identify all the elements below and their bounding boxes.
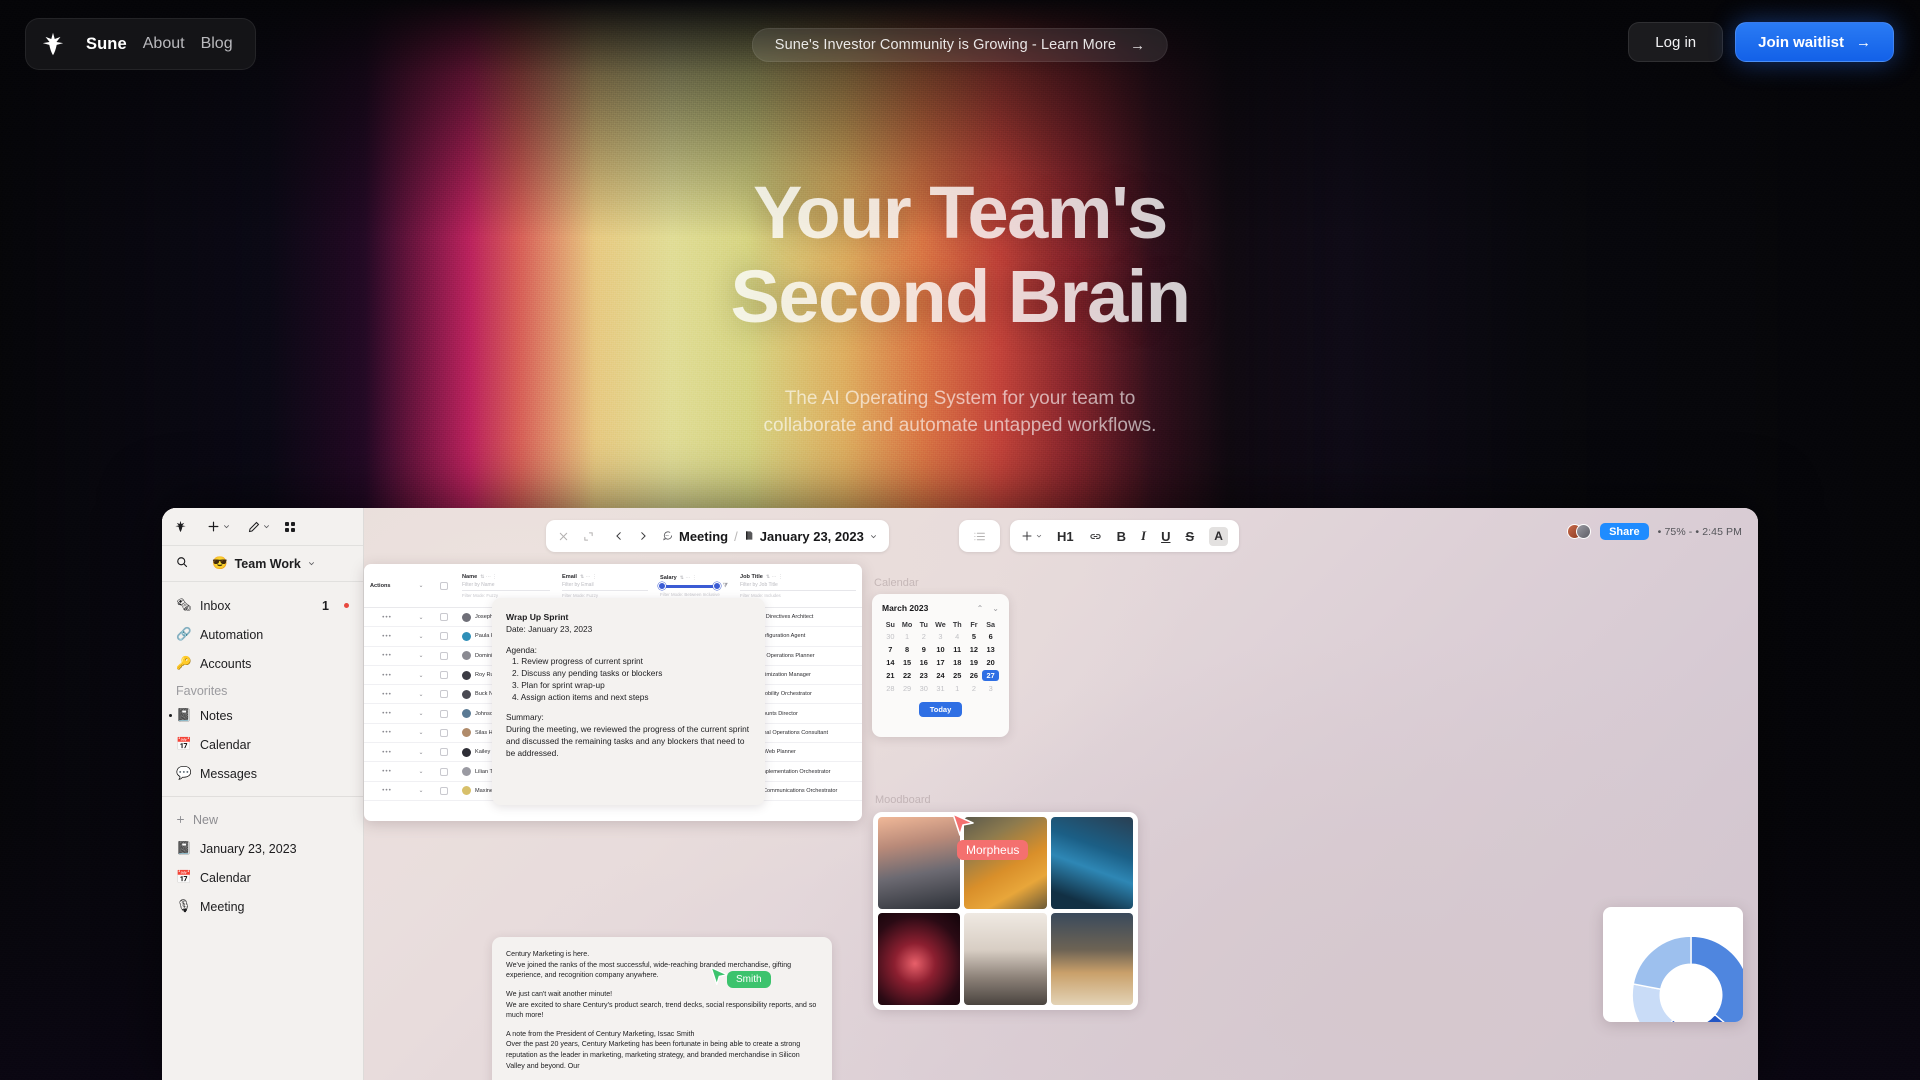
- calendar-footer: Today: [882, 702, 999, 717]
- avatar: [462, 786, 471, 795]
- note-agenda-item: 3. Plan for sprint wrap-up: [512, 680, 751, 692]
- forward-icon[interactable]: [638, 531, 648, 541]
- row-expand-icon[interactable]: ⌄: [410, 633, 432, 640]
- note-agenda-item: 1. Review progress of current sprint: [512, 656, 751, 668]
- login-button[interactable]: Log in: [1628, 22, 1723, 62]
- expand-icon[interactable]: [583, 531, 594, 542]
- avatar: [462, 767, 471, 776]
- note-title: Wrap Up Sprint: [506, 612, 568, 622]
- toolbar-right-group: Share • 75% - • 2:45 PM: [1567, 523, 1742, 540]
- sidebar-page-meeting[interactable]: 🎙 Meeting: [162, 892, 363, 921]
- column-label: Email: [562, 574, 577, 580]
- calendar-day[interactable]: 10: [932, 644, 949, 655]
- gallery-image[interactable]: [964, 913, 1046, 1005]
- row-expand-icon[interactable]: ⌄: [410, 652, 432, 659]
- avatar: [1576, 524, 1591, 539]
- hero-subtitle: The AI Operating System for your team to…: [0, 385, 1920, 440]
- avatar: [462, 671, 471, 680]
- nav-actions: Log in Join waitlist →: [1628, 22, 1894, 62]
- column-filter-mode: Filter Mode: Includes: [740, 593, 856, 598]
- slider-handle-max[interactable]: [713, 582, 721, 590]
- sidebar-item-notes[interactable]: 📓 Notes: [162, 701, 363, 730]
- row-checkbox-cell[interactable]: [432, 613, 456, 621]
- bold-button[interactable]: B: [1117, 529, 1126, 544]
- toolbar-navigation-group: Meeting / January 23, 2023: [546, 520, 889, 552]
- sidebar-item-label: Notes: [200, 709, 349, 723]
- edit-pencil-icon[interactable]: [248, 521, 270, 533]
- arrow-right-icon: →: [1130, 37, 1145, 54]
- hero-title-line1: Your Team's: [753, 171, 1167, 254]
- row-checkbox-cell[interactable]: [432, 632, 456, 640]
- table-column-header[interactable]: Email ⇅ ⋯ ⋮: [562, 574, 648, 580]
- cursor-label: Morpheus: [957, 840, 1028, 860]
- sidebar-page-january-23-2023[interactable]: 📓 January 23, 2023: [162, 834, 363, 863]
- automation-icon: 🔗: [176, 627, 191, 642]
- calendar-day[interactable]: 31: [932, 683, 949, 694]
- calendar-icon: 📅: [176, 737, 191, 752]
- doc-paragraph: Century Marketing is here.: [506, 949, 818, 960]
- note-summary-label: Summary:: [506, 712, 751, 724]
- row-actions-menu[interactable]: •••: [364, 672, 410, 679]
- chevron-down-icon[interactable]: ⌄: [418, 582, 423, 589]
- row-checkbox-cell[interactable]: [432, 787, 456, 795]
- sidebar-page-calendar[interactable]: 📅 Calendar: [162, 863, 363, 892]
- row-checkbox[interactable]: [440, 768, 448, 776]
- row-checkbox[interactable]: [440, 690, 448, 698]
- gallery-image[interactable]: [1051, 913, 1133, 1005]
- column-sort-icon[interactable]: ⇅ ⋯ ⋮: [680, 575, 697, 581]
- avatar: [462, 651, 471, 660]
- sidebar-main-nav: 🗞 Inbox 1 🔗 Automation 🔑 Accounts Favori…: [162, 582, 363, 927]
- gallery-image[interactable]: [878, 817, 960, 909]
- calendar-day[interactable]: 30: [882, 631, 899, 642]
- calendar-day[interactable]: 6: [982, 631, 999, 642]
- calendar-icon: 📅: [176, 870, 191, 885]
- row-expand-icon[interactable]: ⌄: [410, 768, 432, 775]
- calendar-dow: Th: [949, 620, 966, 629]
- column-sort-icon[interactable]: ⇅ ⋯ ⋮: [766, 574, 783, 580]
- avatar: [462, 690, 471, 699]
- table-column-header[interactable]: Salary ⇅ ⋯ ⋮: [660, 575, 728, 581]
- calendar-dow: Fr: [966, 620, 983, 629]
- workspace-name: Team Work: [235, 557, 301, 571]
- column-filter-mode: Filter Mode: Fuzzy: [462, 593, 550, 598]
- hero-section: Your Team's Second Brain The AI Operatin…: [0, 178, 1920, 440]
- grid-apps-icon[interactable]: [284, 521, 296, 533]
- sidebar-new-button[interactable]: New: [162, 805, 363, 834]
- row-expand-icon[interactable]: ⌄: [410, 710, 432, 717]
- column-label: Name: [462, 574, 477, 580]
- calendar-day[interactable]: 8: [899, 644, 916, 655]
- hero-subtitle-line2: collaborate and automate untapped workfl…: [764, 415, 1157, 436]
- sidebar-item-label: Inbox: [200, 599, 313, 613]
- doc-paragraph: Over the past 20 years, Century Marketin…: [506, 1039, 818, 1071]
- breadcrumb-separator: /: [734, 529, 738, 544]
- column-label: Job Title: [740, 574, 763, 580]
- gallery-image[interactable]: [1051, 817, 1133, 909]
- chevron-down-icon[interactable]: ⌄: [992, 604, 999, 613]
- calendar-month-title: March 2023: [882, 603, 928, 613]
- link-icon[interactable]: [1089, 530, 1102, 543]
- row-actions-menu[interactable]: •••: [364, 729, 410, 736]
- heading-1-button[interactable]: H1: [1057, 529, 1074, 544]
- calendar-today-button[interactable]: Today: [919, 702, 963, 717]
- row-expand-icon[interactable]: ⌄: [410, 614, 432, 621]
- donut-chart-card[interactable]: [1603, 907, 1743, 1022]
- row-checkbox[interactable]: [440, 652, 448, 660]
- calendar-dow: We: [932, 620, 949, 629]
- note-date: Date: January 23, 2023: [506, 624, 751, 636]
- row-actions-menu[interactable]: •••: [364, 633, 410, 640]
- calendar-day[interactable]: 3: [982, 683, 999, 694]
- salary-range-slider[interactable]: [660, 585, 719, 588]
- column-filter-input[interactable]: Filter by Job Title: [740, 582, 856, 591]
- sidebar-new-label: New: [193, 813, 218, 827]
- gallery-image[interactable]: [878, 913, 960, 1005]
- column-filter-mode: Filter Mode: Between Inclusive: [660, 592, 728, 597]
- calendar-day[interactable]: 25: [949, 670, 966, 681]
- calendar-day[interactable]: 1: [899, 631, 916, 642]
- app-preview-window: 😎 Team Work 🗞 Inbox 1 🔗 Automation �: [162, 508, 1758, 1080]
- column-sort-icon[interactable]: ⇅ ⋯ ⋮: [580, 574, 597, 580]
- row-actions-menu[interactable]: •••: [364, 652, 410, 659]
- sidebar-item-label: Calendar: [200, 871, 349, 885]
- calendar-day[interactable]: 11: [949, 644, 966, 655]
- calendar-dow: Su: [882, 620, 899, 629]
- note-agenda-item: 2. Discuss any pending tasks or blockers: [512, 668, 751, 680]
- underline-button[interactable]: U: [1161, 529, 1170, 544]
- chevron-down-icon: [870, 533, 877, 540]
- select-all-checkbox[interactable]: [440, 582, 448, 590]
- row-checkbox-cell[interactable]: [432, 729, 456, 737]
- avatar: [462, 748, 471, 757]
- messages-icon: 💬: [176, 766, 191, 781]
- hero-title: Your Team's Second Brain: [0, 178, 1920, 333]
- brand-name[interactable]: Sune: [86, 35, 127, 54]
- row-expand-icon[interactable]: ⌄: [410, 691, 432, 698]
- row-actions-menu[interactable]: •••: [364, 749, 410, 756]
- calendar-day[interactable]: 13: [982, 644, 999, 655]
- doc-paragraph: A note from the President of Century Mar…: [506, 1029, 818, 1040]
- sidebar-item-label: January 23, 2023: [200, 842, 349, 856]
- sparkle-icon[interactable]: [174, 520, 187, 533]
- calendar-day[interactable]: 24: [932, 670, 949, 681]
- table-column-actions: Actions: [370, 583, 404, 589]
- calendar-header: March 2023 ⌃ ⌄: [882, 603, 999, 613]
- calendar-day[interactable]: 2: [915, 631, 932, 642]
- workspace-switcher[interactable]: 😎 Team Work: [212, 556, 315, 571]
- calendar-dow: Tu: [915, 620, 932, 629]
- column-filter-mode: Filter Mode: Fuzzy: [562, 593, 648, 598]
- announcement-text: Sune's Investor Community is Growing - L…: [775, 37, 1116, 53]
- workspace-emoji: 😎: [212, 556, 228, 571]
- breadcrumb-room[interactable]: Meeting: [679, 529, 728, 544]
- row-actions-menu[interactable]: •••: [364, 614, 410, 621]
- room-chat-icon: [662, 529, 673, 544]
- row-checkbox-cell[interactable]: [432, 671, 456, 679]
- close-icon[interactable]: [558, 531, 569, 542]
- sune-logo-icon[interactable]: [36, 27, 70, 61]
- calendar-day[interactable]: 26: [966, 670, 983, 681]
- calendar-dow: Mo: [899, 620, 916, 629]
- row-actions-menu[interactable]: •••: [364, 691, 410, 698]
- inbox-count: 1: [322, 599, 329, 613]
- calendar-day[interactable]: 18: [949, 657, 966, 668]
- sidebar-section-favorites-label: Favorites: [162, 678, 363, 701]
- note-card[interactable]: Wrap Up Sprint Date: January 23, 2023 Ag…: [492, 598, 765, 805]
- donut-chart: [1621, 925, 1743, 1022]
- sidebar-item-label: Calendar: [200, 738, 349, 752]
- calendar-day[interactable]: 5: [966, 631, 983, 642]
- search-icon[interactable]: [176, 555, 188, 573]
- calendar-day[interactable]: 2: [966, 683, 983, 694]
- row-expand-icon[interactable]: ⌄: [410, 787, 432, 794]
- sidebar-item-automation[interactable]: 🔗 Automation: [162, 620, 363, 649]
- sidebar-item-calendar[interactable]: 📅 Calendar: [162, 730, 363, 759]
- row-expand-icon[interactable]: ⌄: [410, 672, 432, 679]
- announcement-banner[interactable]: Sune's Investor Community is Growing - L…: [752, 28, 1168, 62]
- avatar: [462, 728, 471, 737]
- doc-paragraph: We've joined the ranks of the most succe…: [506, 960, 818, 981]
- avatar: [462, 613, 471, 622]
- toolbar-list-group: [959, 520, 1000, 552]
- sidebar-item-label: Messages: [200, 767, 349, 781]
- calendar-grid: SuMoTuWeThFrSa30123456789101112131415161…: [882, 620, 999, 694]
- list-view-icon[interactable]: [973, 530, 986, 543]
- join-waitlist-button[interactable]: Join waitlist →: [1735, 22, 1894, 62]
- landing-page: Sune About Blog Sune's Investor Communit…: [0, 0, 1920, 1080]
- doc-paragraph: We are excited to share Century's produc…: [506, 1000, 818, 1021]
- calendar-day[interactable]: 4: [949, 631, 966, 642]
- calendar-day[interactable]: 27: [982, 670, 999, 681]
- row-checkbox-cell[interactable]: [432, 652, 456, 660]
- table-column-header[interactable]: Job Title ⇅ ⋯ ⋮: [740, 574, 856, 580]
- note-agenda-label: Agenda:: [506, 645, 751, 657]
- insert-block-icon[interactable]: [1021, 530, 1042, 542]
- canvas-label-moodboard: Moodboard: [875, 794, 931, 806]
- note-summary-text: During the meeting, we reviewed the prog…: [506, 724, 751, 759]
- row-checkbox[interactable]: [440, 787, 448, 795]
- row-checkbox-cell[interactable]: [432, 748, 456, 756]
- app-canvas: Calendar Moodboard Wrap Up Sprint Date: …: [364, 564, 1758, 1080]
- cursor-arrow-icon: [951, 812, 977, 842]
- cursor-label: Smith: [727, 971, 771, 988]
- row-expand-icon[interactable]: ⌄: [410, 729, 432, 736]
- unread-dot-icon: [344, 603, 349, 608]
- sidebar-item-messages[interactable]: 💬 Messages: [162, 759, 363, 788]
- sidebar-divider: [162, 796, 363, 797]
- calendar-day[interactable]: 15: [899, 657, 916, 668]
- calendar-day[interactable]: 7: [882, 644, 899, 655]
- sidebar-search-row: 😎 Team Work: [162, 546, 363, 582]
- calendar-day[interactable]: 23: [915, 670, 932, 681]
- active-bullet-icon: [169, 714, 172, 717]
- slider-handle-min[interactable]: [658, 582, 666, 590]
- row-checkbox-cell[interactable]: [432, 768, 456, 776]
- sidebar-item-accounts[interactable]: 🔑 Accounts: [162, 649, 363, 678]
- app-toolbar: Meeting / January 23, 2023: [364, 508, 1758, 564]
- moodboard-gallery[interactable]: Morpheus: [873, 812, 1138, 1010]
- calendar-day[interactable]: 30: [915, 683, 932, 694]
- filter-icon[interactable]: ⧩: [723, 583, 728, 590]
- row-checkbox[interactable]: [440, 613, 448, 621]
- row-checkbox[interactable]: [440, 632, 448, 640]
- add-new-icon[interactable]: [207, 520, 230, 533]
- notes-icon: 📓: [176, 708, 191, 723]
- calendar-day[interactable]: 21: [882, 670, 899, 681]
- column-label: Salary: [660, 575, 677, 581]
- document-text-card[interactable]: Century Marketing is here. We've joined …: [492, 937, 832, 1080]
- collaborator-avatars[interactable]: [1567, 524, 1591, 539]
- nav-link-about[interactable]: About: [143, 35, 185, 53]
- column-sort-icon[interactable]: ⇅ ⋯ ⋮: [480, 574, 497, 580]
- row-actions-menu[interactable]: •••: [364, 768, 410, 775]
- back-icon[interactable]: [614, 531, 624, 541]
- toolbar-format-group: H1 B I U S A: [1010, 520, 1239, 552]
- calendar-day[interactable]: 17: [932, 657, 949, 668]
- calendar-day[interactable]: 12: [966, 644, 983, 655]
- column-filter-input[interactable]: Filter by Email: [562, 582, 648, 591]
- accounts-key-icon: 🔑: [176, 656, 191, 671]
- hero-subtitle-line1: The AI Operating System for your team to: [785, 388, 1136, 409]
- sidebar-item-label: Accounts: [200, 657, 349, 671]
- avatar: [462, 632, 471, 641]
- sidebar-item-label: Meeting: [200, 900, 349, 914]
- text-color-button[interactable]: A: [1209, 527, 1228, 546]
- row-checkbox[interactable]: [440, 748, 448, 756]
- nav-link-blog[interactable]: Blog: [201, 35, 233, 53]
- page-icon: 📓: [176, 841, 191, 856]
- calendar-day[interactable]: 28: [882, 683, 899, 694]
- row-checkbox[interactable]: [440, 671, 448, 679]
- calendar-widget[interactable]: March 2023 ⌃ ⌄ SuMoTuWeThFrSa30123456789…: [872, 594, 1009, 737]
- row-checkbox-cell[interactable]: [432, 690, 456, 698]
- row-actions-menu[interactable]: •••: [364, 710, 410, 717]
- calendar-day[interactable]: 20: [982, 657, 999, 668]
- avatar: [462, 709, 471, 718]
- share-button[interactable]: Share: [1600, 523, 1649, 540]
- microphone-icon: 🎙: [176, 899, 191, 914]
- row-expand-icon[interactable]: ⌄: [410, 749, 432, 756]
- app-sidebar: 😎 Team Work 🗞 Inbox 1 🔗 Automation �: [162, 508, 364, 1080]
- calendar-day[interactable]: 22: [899, 670, 916, 681]
- sidebar-item-inbox[interactable]: 🗞 Inbox 1: [162, 591, 363, 620]
- hero-title-line2: Second Brain: [0, 262, 1920, 332]
- chevron-up-icon[interactable]: ⌃: [977, 604, 984, 613]
- row-checkbox[interactable]: [440, 710, 448, 718]
- table-column-header[interactable]: Name ⇅ ⋯ ⋮: [462, 574, 550, 580]
- note-agenda-item: 4. Assign action items and next steps: [512, 692, 751, 704]
- canvas-label-calendar: Calendar: [874, 577, 919, 589]
- chevron-down-icon: [308, 560, 315, 567]
- calendar-day[interactable]: 1: [949, 683, 966, 694]
- breadcrumb-page[interactable]: January 23, 2023: [760, 529, 864, 544]
- calendar-day[interactable]: 16: [915, 657, 932, 668]
- strikethrough-button[interactable]: S: [1185, 529, 1194, 544]
- row-actions-menu[interactable]: •••: [364, 787, 410, 794]
- join-waitlist-label: Join waitlist: [1758, 34, 1844, 51]
- calendar-day[interactable]: 29: [899, 683, 916, 694]
- sidebar-item-label: Automation: [200, 628, 349, 642]
- calendar-day[interactable]: 9: [915, 644, 932, 655]
- sidebar-toolbar: [162, 508, 363, 546]
- calendar-dow: Sa: [982, 620, 999, 629]
- breadcrumb: Meeting / January 23, 2023: [662, 529, 877, 544]
- plus-icon: [176, 815, 185, 824]
- column-filter-input[interactable]: Filter by Name: [462, 582, 550, 591]
- calendar-day[interactable]: 3: [932, 631, 949, 642]
- arrow-right-icon: →: [1856, 34, 1871, 51]
- status-meta: • 75% - • 2:45 PM: [1658, 526, 1742, 538]
- doc-paragraph: We just can't wait another minute!: [506, 989, 818, 1000]
- page-doc-icon: [744, 529, 754, 544]
- row-checkbox-cell[interactable]: [432, 710, 456, 718]
- italic-button[interactable]: I: [1141, 528, 1146, 544]
- inbox-icon: 🗞: [176, 598, 191, 613]
- calendar-nav[interactable]: ⌃ ⌄: [977, 604, 999, 613]
- row-checkbox[interactable]: [440, 729, 448, 737]
- primary-nav: Sune About Blog: [25, 18, 256, 70]
- calendar-day[interactable]: 19: [966, 657, 983, 668]
- calendar-day[interactable]: 14: [882, 657, 899, 668]
